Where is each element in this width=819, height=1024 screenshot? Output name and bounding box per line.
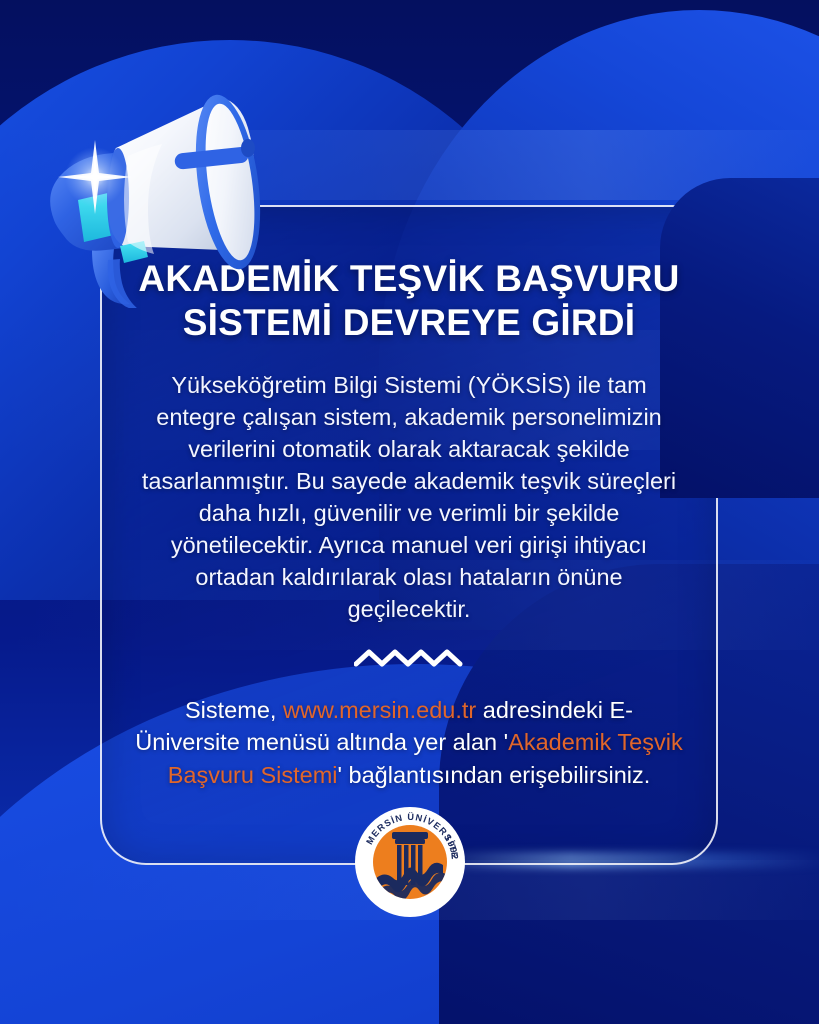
website-url[interactable]: www.mersin.edu.tr: [283, 697, 476, 723]
access-instructions: Sisteme, www.mersin.edu.tr adresindeki E…: [130, 694, 688, 791]
megaphone-icon: [16, 78, 286, 308]
mersin-universitesi-logo: MERSİN ÜNİVERSİTESİ 1992: [354, 806, 466, 918]
body-paragraph: Yükseköğretim Bilgi Sistemi (YÖKSİS) ile…: [130, 370, 688, 626]
poster-canvas: AKADEMİK TEŞVİK BAŞVURU SİSTEMİ DEVREYE …: [0, 0, 819, 1024]
access-lead: Sisteme,: [185, 697, 283, 723]
access-tail: ' bağlantısından erişebilirsiniz.: [338, 762, 651, 788]
zigzag-divider-icon: [354, 648, 464, 672]
